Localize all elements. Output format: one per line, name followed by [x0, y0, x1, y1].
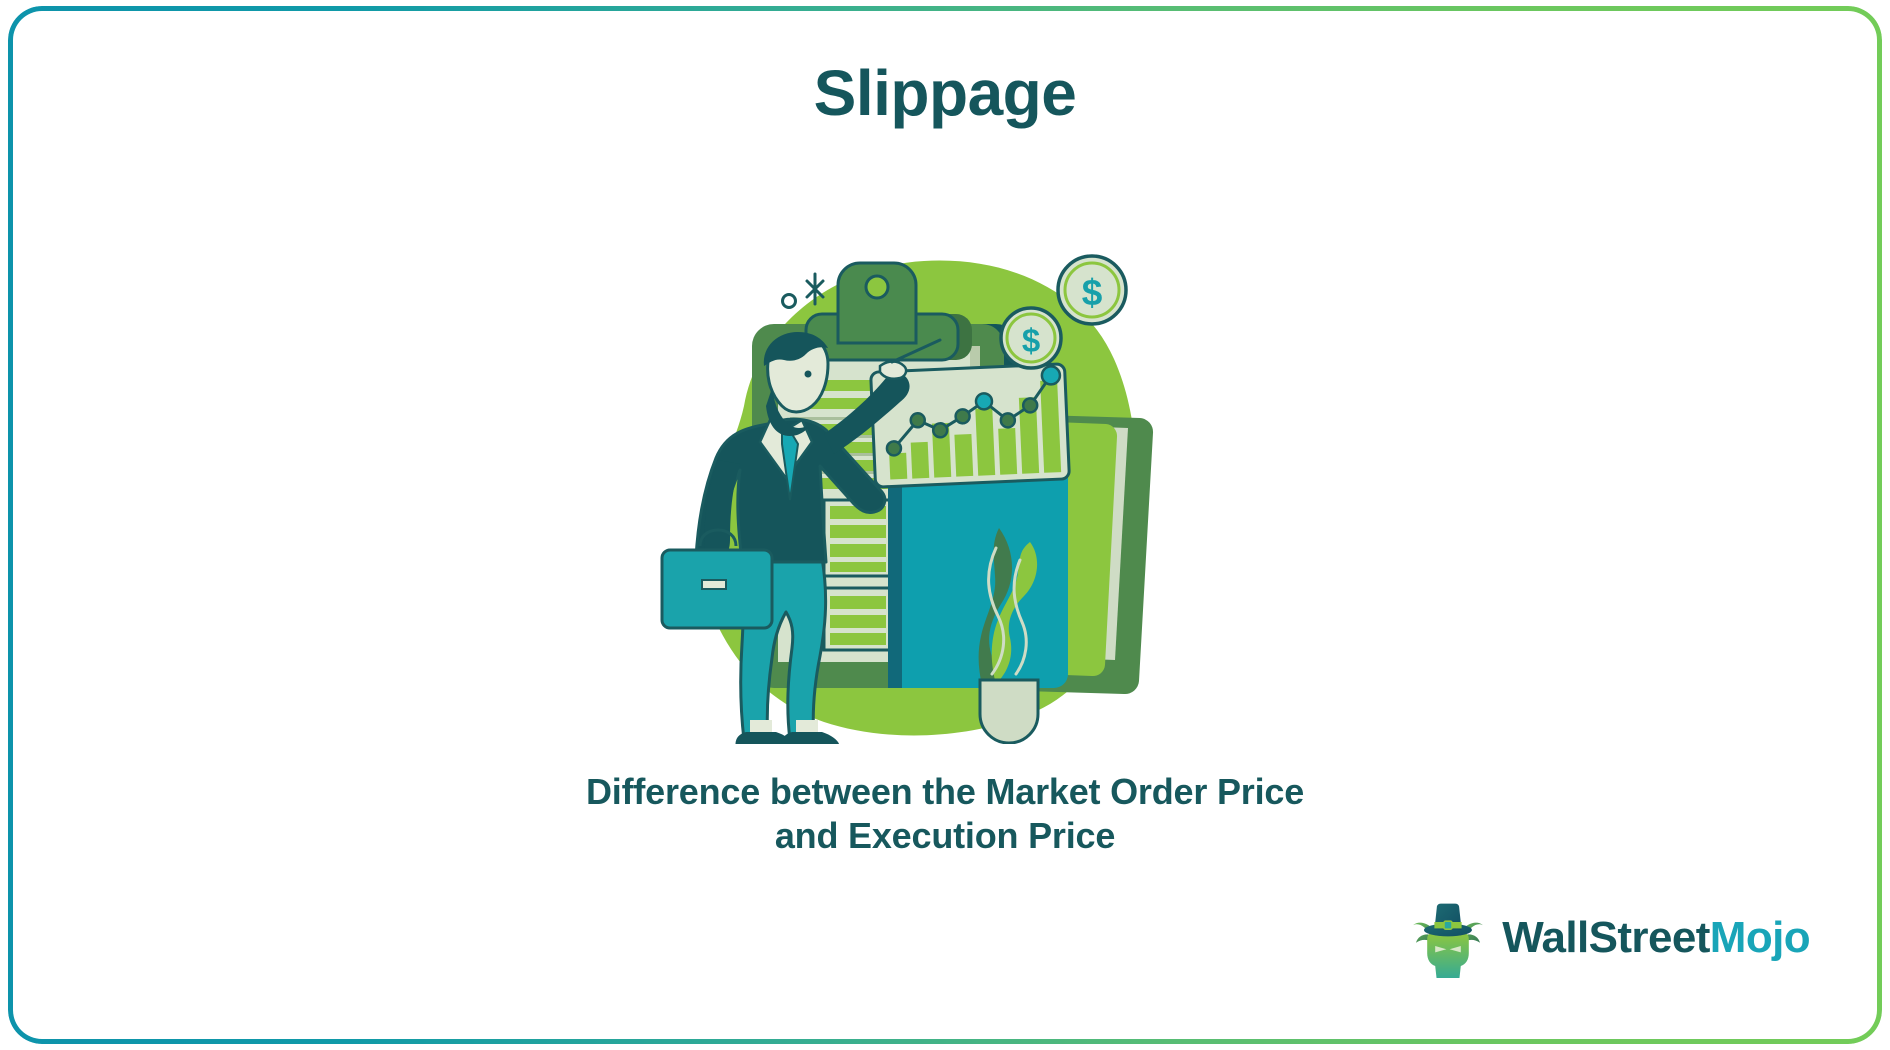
- chart-point: [1023, 398, 1038, 413]
- chart-point: [887, 441, 902, 456]
- chart-point: [933, 423, 948, 438]
- coin-symbol: $: [1022, 322, 1040, 359]
- plant-pot: [980, 680, 1038, 743]
- bull-with-top-hat-icon: [1408, 898, 1488, 978]
- subtitle-line-2: and Execution Price: [0, 814, 1890, 858]
- logo-wordmark: WallStreetMojo: [1502, 913, 1810, 963]
- subtitle: Difference between the Market Order Pric…: [0, 770, 1890, 858]
- top-hat-buckle: [1444, 921, 1452, 929]
- chart-point: [1001, 413, 1016, 428]
- chart-bar: [975, 408, 995, 476]
- coin-symbol: $: [1082, 272, 1103, 313]
- subtitle-line-1: Difference between the Market Order Pric…: [0, 770, 1890, 814]
- coin-large: $: [1058, 256, 1126, 324]
- logo-text-wallstreet: WallStreet: [1502, 913, 1710, 962]
- hand: [880, 362, 906, 379]
- slide-content: Slippage: [0, 0, 1890, 1050]
- page-title: Slippage: [0, 56, 1890, 130]
- chart-bar: [911, 442, 930, 479]
- shoe-right: [781, 732, 840, 744]
- clipboard-clip-hole: [866, 276, 888, 298]
- bull-head: [1427, 933, 1469, 978]
- chart-bar: [889, 453, 907, 480]
- hero-illustration: $ $: [648, 228, 1184, 744]
- eye: [805, 371, 812, 378]
- chart-point: [910, 413, 925, 428]
- chart-point: [955, 409, 970, 424]
- chart-point: [976, 393, 993, 410]
- briefcase-latch: [702, 580, 726, 589]
- logo-text-mojo: Mojo: [1710, 913, 1810, 962]
- slide-card: Slippage: [0, 0, 1890, 1050]
- chart-bar: [954, 434, 973, 477]
- chart-point: [1042, 366, 1061, 385]
- illustration-svg: $ $: [648, 228, 1184, 744]
- small-circle-icon: [783, 295, 796, 308]
- wallstreetmojo-logo[interactable]: WallStreetMojo: [1408, 898, 1810, 978]
- chart-bar: [998, 428, 1017, 475]
- coin-small: $: [1001, 308, 1061, 368]
